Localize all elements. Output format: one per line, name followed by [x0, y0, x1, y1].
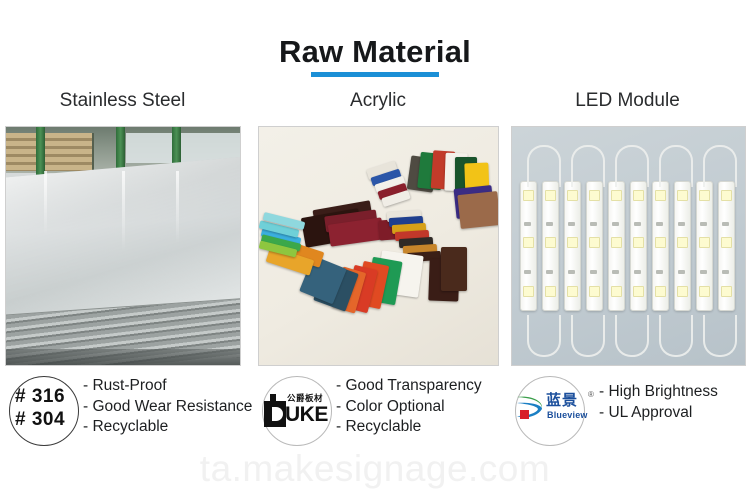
led-resistor-mark — [568, 222, 575, 226]
title-accent-rule — [311, 72, 439, 77]
led-modules-photo — [512, 127, 745, 365]
raw-material-infographic: Raw Material Stainless Steel Acrylic LED… — [0, 0, 750, 497]
led-module — [586, 181, 603, 311]
feature-item: - UL Approval — [599, 403, 750, 424]
led-module — [718, 181, 735, 311]
led-resistor-mark — [634, 270, 641, 274]
led-resistor-mark — [722, 270, 729, 274]
feature-item: - Color Optional — [336, 397, 506, 418]
steel-grade-304: # 304 — [15, 409, 93, 431]
led-smd-chip — [699, 190, 710, 201]
led-smd-chip — [721, 286, 732, 297]
feature-block-stainless-steel: # 316 # 304 - Rust-Proof - Good Wear Res… — [5, 374, 253, 448]
led-smd-chip — [545, 190, 556, 201]
led-connector-wire — [703, 315, 737, 357]
led-connector-wire — [527, 315, 561, 357]
led-resistor-mark — [722, 222, 729, 226]
led-smd-chip — [655, 237, 666, 248]
blueview-logo-cn: 蓝景 — [546, 392, 578, 410]
led-resistor-mark — [634, 222, 641, 226]
led-smd-chip — [655, 190, 666, 201]
led-smd-chip — [589, 237, 600, 248]
led-smd-chip — [699, 286, 710, 297]
led-smd-chip — [699, 237, 710, 248]
led-resistor-mark — [524, 222, 531, 226]
led-smd-chip — [523, 237, 534, 248]
led-resistor-mark — [568, 270, 575, 274]
page-title: Raw Material — [0, 34, 750, 70]
led-smd-chip — [589, 190, 600, 201]
led-connector-wire — [615, 315, 649, 357]
column-heading-stainless-steel: Stainless Steel — [5, 89, 240, 113]
surface-reflection — [44, 171, 47, 235]
led-connector-wire — [659, 315, 693, 357]
led-smd-chip — [721, 237, 732, 248]
feature-item: - Good Wear Resistance — [83, 397, 253, 418]
photo-panel-led-module — [511, 126, 746, 366]
led-smd-chip — [633, 237, 644, 248]
led-module — [542, 181, 559, 311]
photo-panel-acrylic — [258, 126, 499, 366]
led-smd-chip — [677, 286, 688, 297]
led-module — [630, 181, 647, 311]
led-smd-chip — [655, 286, 666, 297]
green-pillar — [36, 127, 45, 175]
led-smd-chip — [633, 286, 644, 297]
page-title-block: Raw Material — [0, 34, 750, 70]
led-resistor-mark — [590, 270, 597, 274]
feature-list-led-module: - High Brightness - UL Approval — [599, 382, 750, 423]
lumber-stack — [6, 133, 94, 171]
stainless-steel-photo — [6, 127, 240, 365]
led-smd-chip — [545, 286, 556, 297]
led-smd-chip — [721, 190, 732, 201]
led-resistor-mark — [656, 270, 663, 274]
led-module — [652, 181, 669, 311]
led-smd-chip — [611, 286, 622, 297]
feature-list-acrylic: - Good Transparency - Color Optional - R… — [336, 376, 506, 438]
led-module — [608, 181, 625, 311]
led-resistor-mark — [656, 222, 663, 226]
led-smd-chip — [611, 190, 622, 201]
led-connector-wire — [571, 315, 605, 357]
feature-item: - Recyclable — [336, 417, 506, 438]
column-headings: Stainless Steel Acrylic LED Module — [0, 89, 750, 115]
led-smd-chip — [523, 190, 534, 201]
led-module — [564, 181, 581, 311]
feature-item: - Rust-Proof — [83, 376, 253, 397]
led-resistor-mark — [524, 270, 531, 274]
led-resistor-mark — [700, 270, 707, 274]
column-heading-led-module: LED Module — [510, 89, 745, 113]
led-module — [674, 181, 691, 311]
duke-logo-text: UKE — [285, 402, 328, 427]
led-smd-chip — [567, 237, 578, 248]
led-smd-chip — [567, 286, 578, 297]
blueview-logo: 蓝景 ® Blueview — [515, 392, 599, 430]
duke-logo: 公爵板材 UKE — [264, 394, 332, 428]
led-resistor-mark — [546, 222, 553, 226]
feature-block-led-module: 蓝景 ® Blueview - High Brightness - UL App… — [511, 374, 749, 448]
led-resistor-mark — [612, 222, 619, 226]
led-smd-chip — [611, 237, 622, 248]
warehouse-window — [126, 133, 172, 163]
led-resistor-mark — [546, 270, 553, 274]
feature-item: - Recyclable — [83, 417, 253, 438]
steel-grade-316: # 316 — [15, 386, 93, 408]
surface-reflection — [176, 171, 179, 243]
site-watermark: ta.makesignage.com — [0, 448, 750, 490]
blueview-red-square — [520, 410, 529, 419]
acrylic-sheet-chip — [457, 191, 498, 229]
feature-block-acrylic: 公爵板材 UKE - Good Transparency - Color Opt… — [258, 374, 506, 448]
photo-panel-stainless-steel — [5, 126, 241, 366]
led-module — [520, 181, 537, 311]
feature-list-stainless-steel: - Rust-Proof - Good Wear Resistance - Re… — [83, 376, 253, 438]
led-resistor-mark — [612, 270, 619, 274]
feature-item: - High Brightness — [599, 382, 750, 403]
surface-reflection — [122, 171, 125, 251]
led-smd-chip — [567, 190, 578, 201]
led-module — [696, 181, 713, 311]
led-smd-chip — [545, 237, 556, 248]
steel-stack-edge — [6, 349, 240, 365]
led-smd-chip — [677, 237, 688, 248]
feature-item: - Good Transparency — [336, 376, 506, 397]
led-smd-chip — [677, 190, 688, 201]
led-resistor-mark — [678, 222, 685, 226]
duke-d-stem — [270, 394, 276, 406]
led-resistor-mark — [700, 222, 707, 226]
blueview-logo-text: Blueview — [547, 410, 588, 421]
trademark-symbol: ® — [588, 390, 594, 399]
led-smd-chip — [523, 286, 534, 297]
acrylic-samples-photo — [259, 127, 498, 365]
led-resistor-mark — [590, 222, 597, 226]
led-smd-chip — [589, 286, 600, 297]
column-heading-acrylic: Acrylic — [258, 89, 498, 113]
acrylic-sheet-chip — [441, 247, 467, 291]
led-smd-chip — [633, 190, 644, 201]
led-resistor-mark — [678, 270, 685, 274]
